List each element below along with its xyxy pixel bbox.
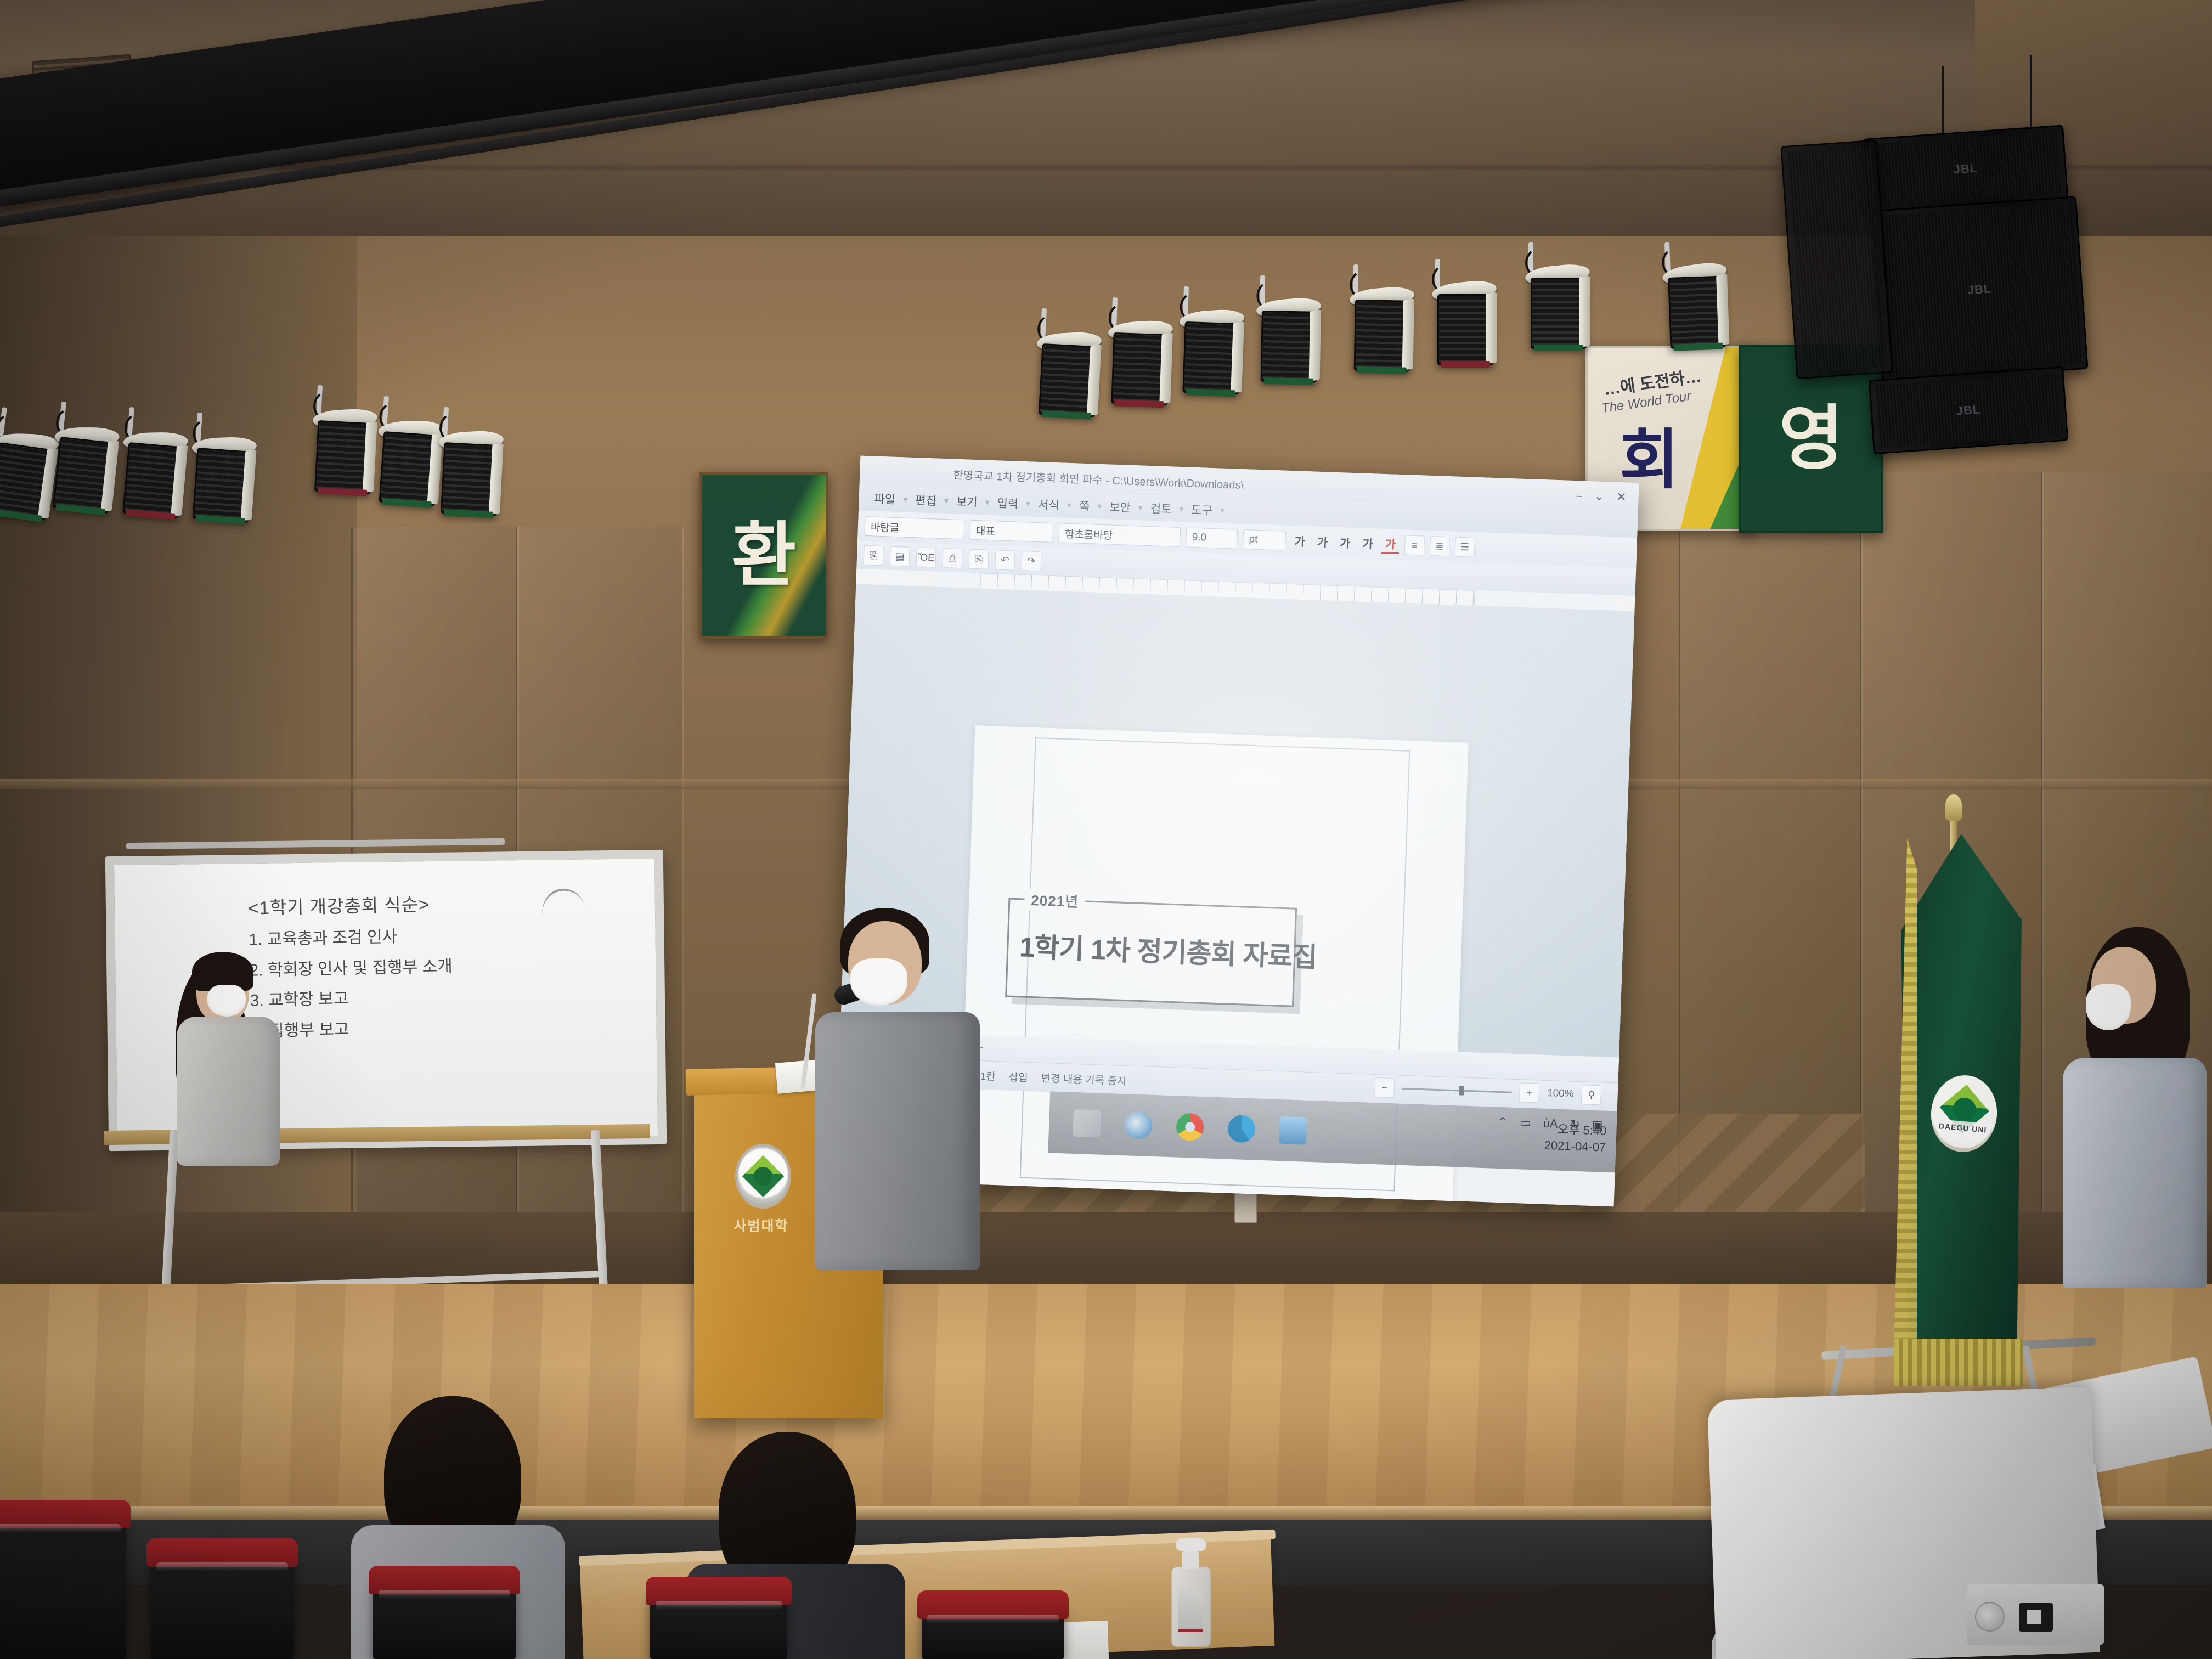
menu-format[interactable]: 서식 [1030,495,1068,513]
jbl-brand-label: JBL [1967,281,1992,297]
clock-time: 오후 5:40 [1544,1121,1607,1139]
font-family-select[interactable]: 함초롬바탕 [1058,523,1181,547]
minimize-icon[interactable]: – [1575,488,1582,503]
underline-button[interactable]: 가 [1336,534,1354,551]
status-mode: 삽입 [1008,1069,1028,1084]
banner-left: 환 [699,472,828,639]
show-hidden-icons-icon[interactable]: ⌃ [1497,1115,1508,1130]
menu-review[interactable]: 검토 [1142,500,1180,517]
save-icon[interactable]: ὋE [916,547,936,567]
window-controls[interactable]: – ⌄ ✕ [1575,488,1627,504]
new-document-icon[interactable]: ⎘ [864,545,884,566]
internet-explorer-icon[interactable] [1124,1111,1153,1139]
zoom-value-label: 100% [1547,1087,1574,1101]
podium-college-label: 사범대학 [727,1215,795,1235]
jbl-line-array-bottom: JBL [1869,366,2069,455]
align-left-icon[interactable]: ≡ [1404,535,1424,555]
chrome-icon[interactable] [1176,1113,1204,1141]
person-jacket [2063,1058,2207,1288]
restore-icon[interactable]: ⌄ [1594,489,1604,504]
menu-view[interactable]: 보기 [948,493,985,510]
speaker-at-podium [812,908,1009,1418]
face-mask-icon [850,958,907,1006]
close-icon[interactable]: ✕ [1616,490,1627,505]
menu-file[interactable]: 파일 [866,490,904,507]
zoom-in-icon[interactable]: + [1519,1082,1539,1103]
start-icon[interactable] [1073,1109,1101,1138]
flag-fringe-bottom [1894,1339,2023,1386]
face-mask-icon [207,985,246,1017]
av-volume-knob[interactable] [1975,1602,2005,1632]
redo-icon[interactable]: ↷ [1021,551,1041,571]
document-main-title: 1학기 1차 정기총회 자료집 [1019,925,1283,974]
auditorium-seat[interactable] [650,1591,787,1659]
jbl-line-array-side [1780,139,1893,379]
jbl-line-array-main: JBL [1870,196,2088,383]
face-mask-icon [2086,984,2131,1030]
search-icon[interactable]: ⚲ [1581,1085,1601,1105]
menu-tools[interactable]: 도구 [1183,501,1221,518]
student-right [2052,927,2211,1311]
banner-right-glyph: 영 [1779,404,1844,474]
person-blazer [815,1012,980,1270]
menu-page[interactable]: 쪽 [1071,497,1097,515]
jbl-brand-label: JBL [1956,402,1981,418]
wall-baseboard [0,1212,2212,1289]
font-size-input[interactable]: 9.0 [1186,527,1238,549]
hwp-window-title: 한영국교 1차 정기총회 회연 파수 - C:\Users\Work\Downl… [953,466,1244,492]
auditorium-scene: 환 …에 도전하… The World Tour 회 영 JBL JBL JBL [0,0,2212,1659]
document-year-label: 2021년 [1024,889,1086,912]
network-icon[interactable]: ▭ [1520,1115,1532,1130]
auditorium-seat[interactable] [922,1605,1064,1659]
italic-button[interactable]: 가 [1313,534,1331,551]
zoom-out-icon[interactable]: − [1375,1077,1395,1098]
sanitizer-label [1178,1589,1203,1632]
av-power-switch[interactable] [2019,1603,2053,1632]
undo-icon[interactable]: ↶ [995,550,1015,570]
speaker-rigging-wire [2030,55,2032,137]
style-preset-select[interactable]: 대표 [969,520,1053,543]
document-title-box: 2021년 1학기 1차 정기총회 자료집 [1005,898,1297,1007]
file-explorer-icon[interactable] [1279,1116,1307,1145]
clock-date: 2021-04-07 [1544,1137,1606,1156]
auditorium-seat[interactable] [373,1580,516,1659]
print-icon[interactable]: ⎙ [942,548,962,568]
preview-icon[interactable]: ⎘ [968,549,989,569]
jbl-brand-label: JBL [1953,161,1978,177]
hand-sanitizer-bottle [1171,1536,1210,1646]
align-center-icon[interactable]: ≣ [1429,536,1449,556]
person-jacket [177,1017,280,1166]
menu-insert[interactable]: 입력 [989,494,1026,512]
align-justify-icon[interactable]: ☰ [1454,537,1475,557]
auditorium-seat[interactable] [0,1514,126,1659]
sanitizer-neck [1182,1550,1199,1569]
zoom-slider[interactable] [1402,1087,1512,1093]
strikethrough-button[interactable]: 가 [1359,535,1376,552]
emblem-center-dot [754,1167,772,1186]
bold-button[interactable]: 가 [1291,533,1308,550]
speaker-rigging-wire [1942,66,1944,137]
menu-caret-icon: ▾ [1220,505,1225,516]
menu-edit[interactable]: 편집 [907,492,945,509]
zoom-slider-knob[interactable] [1459,1086,1465,1095]
auditorium-seat[interactable] [151,1553,294,1659]
taskbar-clock[interactable]: 오후 5:40 2021-04-07 [1544,1121,1607,1155]
daegu-university-emblem [735,1144,791,1209]
status-track-changes: 변경 내용 기록 중지 [1041,1070,1127,1087]
font-color-button[interactable]: 가 [1381,535,1399,554]
banner-left-glyph: 환 [732,521,797,591]
wall-outlet [1234,1193,1257,1223]
paragraph-style-select[interactable]: 바탕글 [864,516,964,539]
student-left [165,952,296,1347]
open-file-icon[interactable]: ▤ [889,546,910,567]
font-unit-label: pt [1243,529,1286,551]
sanitizer-pump-icon [1176,1538,1206,1551]
flag-finial-icon [1945,794,1962,821]
edge-icon[interactable] [1227,1115,1256,1143]
menu-security[interactable]: 보안 [1102,498,1139,516]
